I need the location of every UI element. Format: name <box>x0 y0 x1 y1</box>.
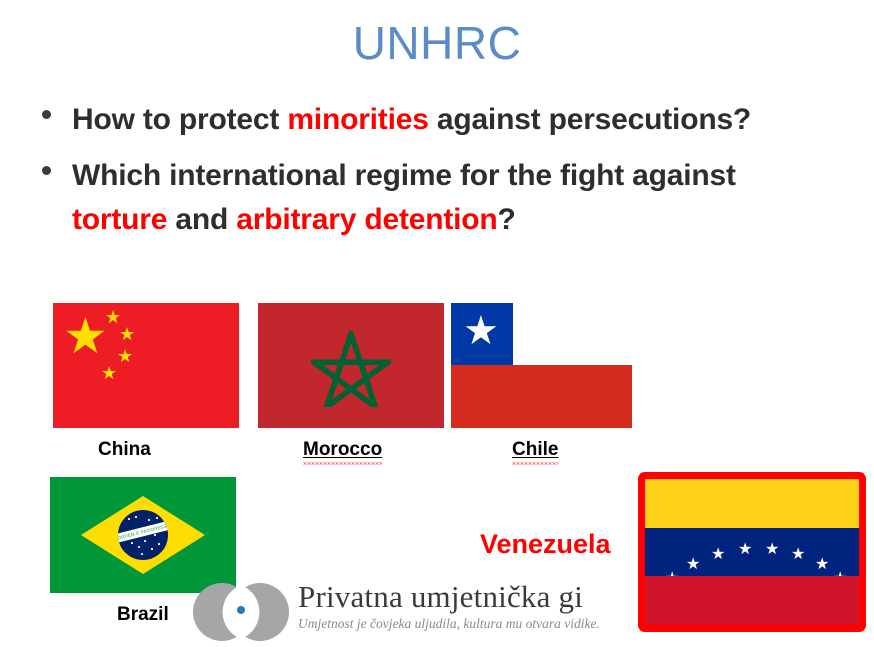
flag-caption-china: China <box>98 439 151 461</box>
venn-circles-logo <box>193 583 289 641</box>
star-icon: ★ <box>815 556 829 572</box>
watermark-text: Privatna umjetnička gi Umjetnost je čovj… <box>298 581 600 632</box>
gallery-watermark: Privatna umjetnička gi Umjetnost je čovj… <box>193 575 663 647</box>
flag-canton: ★ <box>451 303 513 365</box>
bullet-highlight-minorities: minorities <box>287 103 428 136</box>
page-title: UNHRC <box>0 18 874 69</box>
bullet-highlight-arbitrary-detention: arbitrary detention <box>236 203 497 236</box>
flag-caption-brazil: Brazil <box>117 604 169 626</box>
flag-caption-venezuela: Venezuela <box>480 529 611 560</box>
star-icon: ★ <box>63 311 108 361</box>
star-icon: ★ <box>765 541 779 557</box>
pentagram-icon <box>311 331 391 407</box>
flag-blue-band: ★ ★ ★ ★ ★ ★ ★ ★ <box>645 528 859 577</box>
bullet-highlight-torture: torture <box>72 203 167 236</box>
watermark-tagline: Umjetnost je čovjeka uljudila, kultura m… <box>298 616 600 632</box>
star-icon: ★ <box>117 348 133 366</box>
star-icon: ★ <box>711 546 725 562</box>
bullet-marker-icon <box>42 166 51 175</box>
flag-yellow-band <box>645 479 859 528</box>
star-icon: ★ <box>738 541 752 557</box>
bullet-text-segment: How to protect <box>72 103 287 136</box>
flag-motto-text: ORDEM E PROGRESSO <box>118 521 168 542</box>
flag-motto-band: ORDEM E PROGRESSO <box>118 519 168 543</box>
list-item: How to protect minorities against persec… <box>34 98 794 142</box>
star-icon: ★ <box>101 365 117 383</box>
bullet-text-segment: and <box>167 203 236 236</box>
bullet-text-segment: Which international regime for the fight… <box>72 159 736 192</box>
bullet-text-segment: against persecutions? <box>429 103 751 136</box>
star-icon: ★ <box>463 311 499 351</box>
flag-venezuela-highlighted: ★ ★ ★ ★ ★ ★ ★ ★ <box>638 472 866 632</box>
bullet-text-segment: ? <box>498 203 516 236</box>
star-icon: ★ <box>686 556 700 572</box>
flag-china: ★ ★ ★ ★ ★ <box>53 303 239 428</box>
star-icon: ★ <box>791 546 805 562</box>
flag-red-band <box>451 365 632 428</box>
flag-caption-morocco: Morocco <box>303 439 382 465</box>
watermark-title: Privatna umjetnička gi <box>298 581 600 614</box>
flag-chile: ★ <box>451 303 632 428</box>
bullet-marker-icon <box>42 110 51 119</box>
bullet-list: How to protect minorities against persec… <box>34 98 794 254</box>
flag-red-band <box>645 576 859 625</box>
flag-caption-chile: Chile <box>512 439 558 465</box>
list-item: Which international regime for the fight… <box>34 154 794 242</box>
flag-morocco <box>258 303 444 428</box>
star-icon: ★ <box>119 326 135 344</box>
flag-globe: ORDEM E PROGRESSO <box>118 510 168 560</box>
